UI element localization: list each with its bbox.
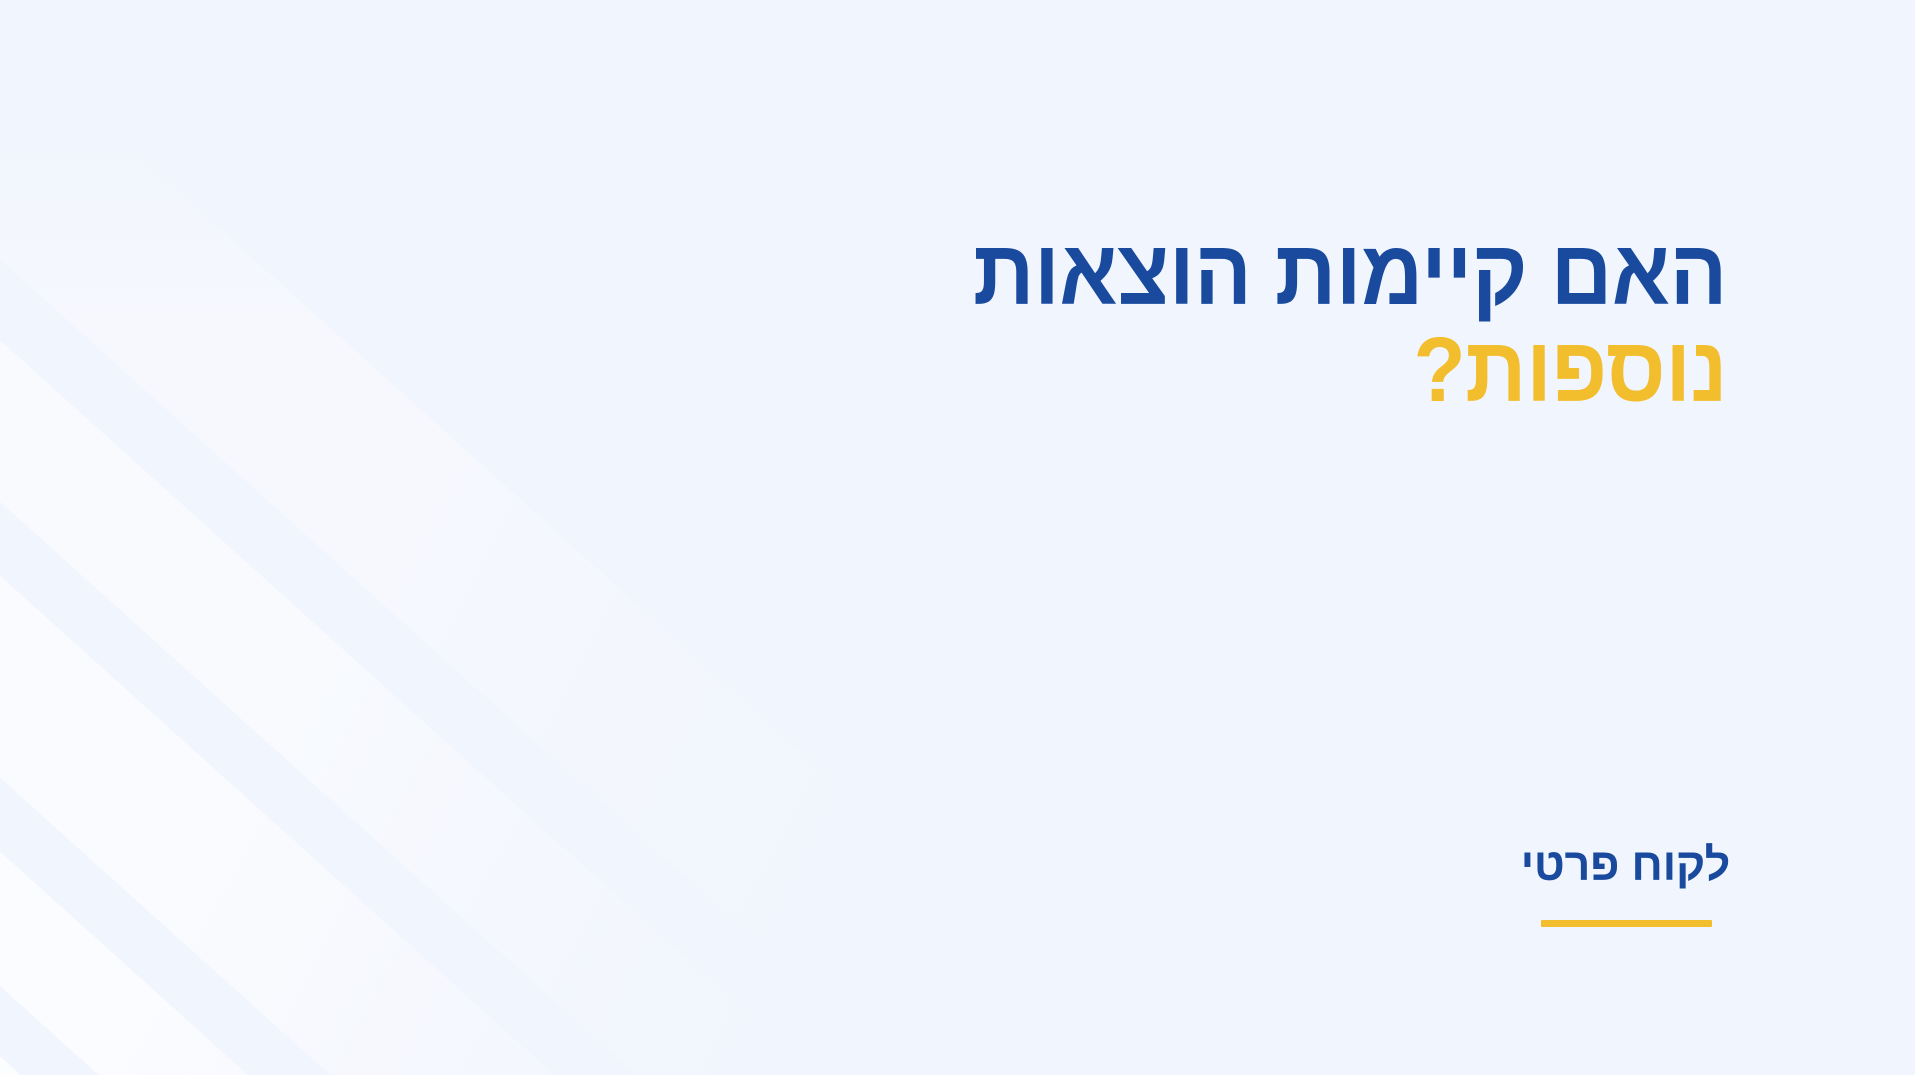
stripe-2 [0,408,841,1075]
diagonal-stripes-decoration [0,0,1699,1075]
headline-line-primary: האם קיימות הוצאות [611,225,1727,323]
stripe-5 [0,13,1197,1075]
page-title: האם קיימות הוצאות נוספות? [527,225,1727,420]
stripe-6 [0,0,1351,1075]
stripe-1 [0,544,719,1075]
slide-canvas: האם קיימות הוצאות נוספות? לקוח פרטי [0,0,1915,1075]
footer-label-underline [1541,920,1712,927]
headline-line-accent: נוספות? [611,322,1727,420]
footer-label: לקוח פרטי [1521,838,1730,927]
footer-label-text: לקוח פרטי [1521,838,1730,892]
